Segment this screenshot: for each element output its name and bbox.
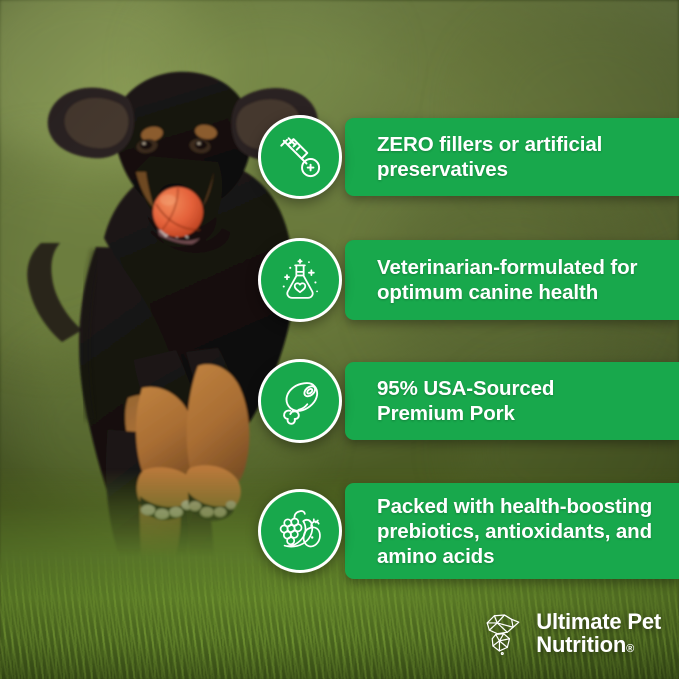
feature-icon-badge-1 [258,115,342,199]
feature-bar-2: Veterinarian-formulated for optimum cani… [345,240,679,320]
feature-bar-3: 95% USA-Sourced Premium Pork [345,362,679,440]
feature-text-1: ZERO fillers or artificial preservatives [345,132,612,182]
faceted-dog-head-icon [480,610,526,656]
feature-list: ZERO fillers or artificial preservatives [0,0,679,679]
ultimate-pet-nutrition-dog-head-logo [480,610,526,656]
feature-icon-badge-4 [258,489,342,573]
brand-logo: Ultimate Pet Nutrition® [480,610,661,658]
brand-line-2: Nutrition® [536,633,661,657]
syringe-no-additives-icon [274,131,326,183]
flask-heart-icon [274,254,326,306]
fruits-vegetables-icon [274,505,326,557]
feature-bar-1: ZERO fillers or artificial preservatives [345,118,679,196]
feature-bar-4: Packed with health-boosting prebiotics, … [345,483,679,579]
promotional-banner: ZERO fillers or artificial preservatives [0,0,679,679]
feature-text-2: Veterinarian-formulated for optimum cani… [345,255,647,305]
brand-name: Ultimate Pet Nutrition® [536,610,661,658]
registered-trademark-mark: ® [626,643,634,655]
feature-row-3: 95% USA-Sourced Premium Pork [258,362,679,440]
feature-text-4: Packed with health-boosting prebiotics, … [345,494,662,569]
ham-hock-icon [274,375,326,427]
feature-row-2: Veterinarian-formulated for optimum cani… [258,240,679,320]
feature-icon-badge-2 [258,238,342,322]
feature-row-1: ZERO fillers or artificial preservatives [258,118,679,196]
feature-icon-badge-3 [258,359,342,443]
brand-line-1: Ultimate Pet [536,609,661,634]
feature-text-3: 95% USA-Sourced Premium Pork [345,376,564,426]
feature-row-4: Packed with health-boosting prebiotics, … [258,483,679,579]
